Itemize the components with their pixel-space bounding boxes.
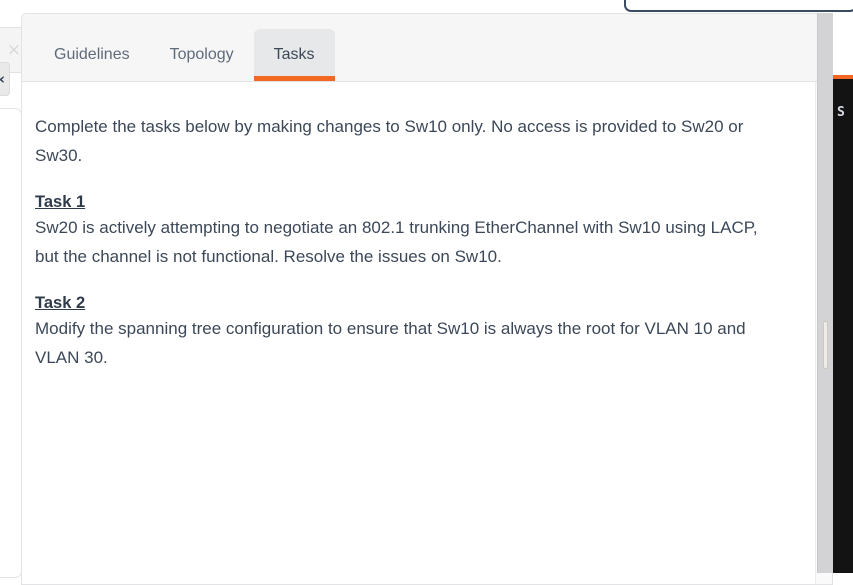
close-icon[interactable]: × xyxy=(7,42,21,59)
task-2-body: Modify the spanning tree configuration t… xyxy=(35,314,781,373)
task-2-heading: Task 2 xyxy=(35,294,781,313)
page-scrollbar[interactable] xyxy=(817,13,833,573)
recording-indicator: Recording xyxy=(624,0,853,12)
task-1-body: Sw20 is actively attempting to negotiate… xyxy=(35,213,781,272)
page-scrollbar-thumb[interactable] xyxy=(823,321,828,369)
collapse-sidebar-button[interactable]: ‹ xyxy=(0,62,10,96)
terminal-accent-bar xyxy=(833,75,853,79)
intro-paragraph: Complete the tasks below by making chang… xyxy=(35,112,781,171)
task-1-heading: Task 1 xyxy=(35,193,781,212)
tab-tasks-label: Tasks xyxy=(274,46,315,64)
dialog-content-wrapper: Complete the tasks below by making chang… xyxy=(22,82,832,584)
tasks-content: Complete the tasks below by making chang… xyxy=(22,82,815,584)
tab-topology[interactable]: Topology xyxy=(150,29,254,81)
tab-guidelines-label: Guidelines xyxy=(54,46,130,64)
background-panel-card xyxy=(0,108,22,578)
chevron-left-icon: ‹ xyxy=(0,72,5,87)
dialog-tab-strip: Guidelines Topology Tasks xyxy=(22,14,832,82)
tasks-dialog: Guidelines Topology Tasks Complete the t… xyxy=(21,13,833,585)
tab-tasks[interactable]: Tasks xyxy=(254,29,335,81)
terminal-visible-text: S xyxy=(837,105,845,120)
terminal-panel[interactable]: S xyxy=(833,75,853,573)
tab-topology-label: Topology xyxy=(170,46,234,64)
tab-guidelines[interactable]: Guidelines xyxy=(34,29,150,81)
